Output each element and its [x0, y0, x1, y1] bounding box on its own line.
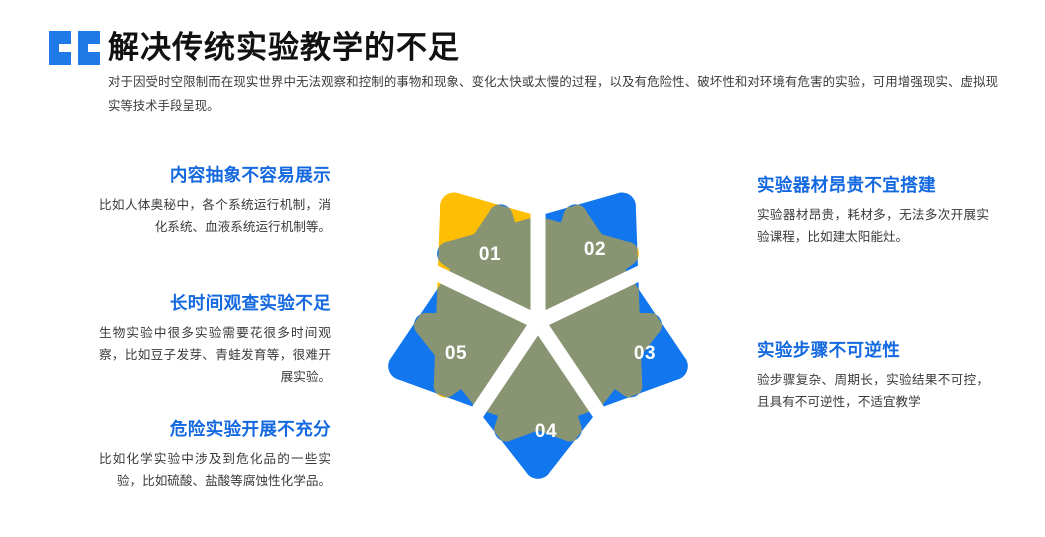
feature-block-irreversible-steps: 实验步骤不可逆性 验步骤复杂、周期长，实验结果不可控，且具有不可逆性，不适宜教学 [757, 338, 989, 413]
petal-number-04: 04 [535, 421, 557, 442]
petal-number-05: 05 [445, 343, 467, 364]
block-title: 长时间观查实验不足 [99, 291, 331, 315]
quote-open-icon [47, 28, 103, 68]
block-title: 内容抽象不容易展示 [99, 163, 331, 187]
feature-block-content-abstract: 内容抽象不容易展示 比如人体奥秘中，各个系统运行机制，消化系统、血液系统运行机制… [99, 163, 331, 238]
petal-number-02: 02 [584, 239, 606, 260]
block-body: 实验器材昂贵，耗材多，无法多次开展实验课程，比如建太阳能灶。 [757, 204, 989, 248]
page-title: 解决传统实验教学的不足 [108, 22, 460, 67]
block-body: 验步骤复杂、周期长，实验结果不可控，且具有不可逆性，不适宜教学 [757, 369, 989, 413]
petal-number-01: 01 [479, 244, 501, 265]
block-body: 比如人体奥秘中，各个系统运行机制，消化系统、血液系统运行机制等。 [99, 194, 331, 238]
block-title: 实验步骤不可逆性 [757, 338, 989, 362]
feature-block-dangerous-experiment: 危险实验开展不充分 比如化学实验中涉及到危化品的一些实验，比如硫酸、盐酸等腐蚀性… [99, 417, 331, 492]
feature-block-long-observation: 长时间观查实验不足 生物实验中很多实验需要花很多时间观察，比如豆子发芽、青蛙发育… [99, 291, 331, 388]
block-title: 危险实验开展不充分 [99, 417, 331, 441]
block-body: 比如化学实验中涉及到危化品的一些实验，比如硫酸、盐酸等腐蚀性化学品。 [99, 448, 331, 492]
block-body: 生物实验中很多实验需要花很多时间观察，比如豆子发芽、青蛙发育等，很难开展实验。 [99, 322, 331, 388]
block-title: 实验器材昂贵不宜搭建 [757, 173, 989, 197]
pinwheel-svg: 01 02 03 04 05 [352, 132, 724, 504]
feature-block-expensive-equipment: 实验器材昂贵不宜搭建 实验器材昂贵，耗材多，无法多次开展实验课程，比如建太阳能灶… [757, 173, 989, 248]
pinwheel-diagram: 01 02 03 04 05 [352, 132, 724, 504]
petal-number-03: 03 [634, 343, 656, 364]
page-subtitle: 对于因受时空限制而在现实世界中无法观察和控制的事物和现象、变化太快或太慢的过程，… [108, 70, 998, 118]
slide-canvas: 解决传统实验教学的不足 对于因受时空限制而在现实世界中无法观察和控制的事物和现象… [0, 0, 1045, 537]
